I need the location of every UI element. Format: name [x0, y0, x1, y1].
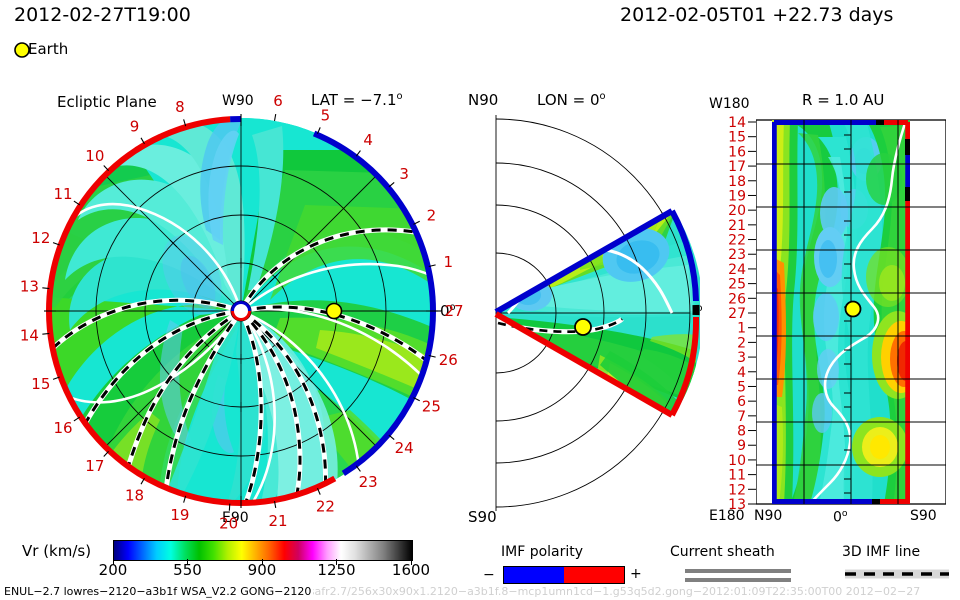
current-sheath-swatch	[685, 567, 791, 583]
radial-y-tick-label: 8	[737, 424, 746, 440]
earth-dot	[575, 319, 591, 335]
colorbar-label: Vr (km/s)	[22, 542, 91, 560]
colorbar-tick-label: 900	[248, 561, 277, 579]
meridional-plot[interactable]	[460, 105, 700, 515]
radial-plot[interactable]	[756, 117, 946, 507]
radial-y-tick-label: 12	[728, 482, 746, 498]
radial-y-tick-label: 22	[728, 233, 746, 249]
imf-line-swatch	[845, 566, 949, 582]
radial-corner-top-left: W180	[709, 96, 750, 112]
radial-y-tick-label: 7	[737, 409, 746, 425]
imf-polarity-plus: +	[630, 566, 642, 582]
radial-y-tick-label: 4	[737, 365, 746, 381]
timestamp-right: 2012-02-05T01 +22.73 days	[620, 4, 893, 26]
timestamp-left: 2012-02-27T19:00	[14, 4, 191, 26]
radial-y-tick-label: 27	[728, 306, 746, 322]
current-sheath-title: Current sheath	[670, 544, 775, 560]
radial-y-tick-label: 17	[728, 159, 746, 175]
earth-dot	[327, 304, 342, 319]
radial-y-tick-label: 16	[728, 144, 746, 160]
earth-legend-icon	[15, 43, 29, 57]
radial-y-tick-label: 23	[728, 247, 746, 263]
radial-y-tick-label: 18	[728, 174, 746, 190]
imf-line-title: 3D IMF line	[842, 544, 920, 560]
radial-corner-bottom-left: E180	[709, 508, 745, 524]
radial-y-tick-label: 15	[728, 130, 746, 146]
radial-y-tick-label: 1	[737, 321, 746, 337]
radial-x-left: N90	[754, 508, 782, 524]
radial-y-tick-label: 20	[728, 203, 746, 219]
earth-dot	[846, 302, 861, 317]
radial-y-tick-label: 11	[728, 468, 746, 484]
radial-y-tick-label: 26	[728, 291, 746, 307]
ecliptic-plot[interactable]	[20, 90, 460, 540]
footer-run-id: ENUL−2.7 lowres−2120−a3b1f WSA_V2.2 GONG…	[4, 585, 313, 598]
colorbar-tick-label: 550	[173, 561, 202, 579]
earth-legend-label: Earth	[28, 40, 68, 58]
radial-x-right: S90	[910, 508, 937, 524]
colorbar[interactable]	[113, 540, 413, 561]
radial-y-tick-label: 10	[728, 453, 746, 469]
imf-positive-swatch	[564, 567, 624, 583]
colorbar-tick-label: 1600	[392, 561, 430, 579]
radial-x-center: 0o	[833, 508, 848, 526]
radial-y-tick-label: 21	[728, 218, 746, 234]
imf-negative-swatch	[504, 567, 564, 583]
imf-polarity-title: IMF polarity	[501, 544, 583, 560]
radial-y-tick-label: 3	[737, 350, 746, 366]
colorbar-tick-label: 1250	[317, 561, 355, 579]
colorbar-tick-label: 200	[99, 561, 128, 579]
radial-title: R = 1.0 AU	[802, 91, 884, 109]
sun-dot	[231, 301, 251, 321]
footer-watermark: examples/wsafr2.7/256x30x90x1.2120−a3b1f…	[243, 585, 920, 598]
radial-y-tick-label: 2	[737, 335, 746, 351]
radial-y-tick-label: 14	[728, 115, 746, 131]
radial-y-tick-label: 5	[737, 379, 746, 395]
radial-y-tick-label: 6	[737, 394, 746, 410]
radial-y-tick-label: 25	[728, 277, 746, 293]
imf-polarity-minus: −	[483, 567, 495, 583]
radial-y-tick-label: 9	[737, 438, 746, 454]
radial-y-tick-label: 24	[728, 262, 746, 278]
radial-y-tick-label: 19	[728, 188, 746, 204]
imf-polarity-swatch	[503, 566, 625, 584]
